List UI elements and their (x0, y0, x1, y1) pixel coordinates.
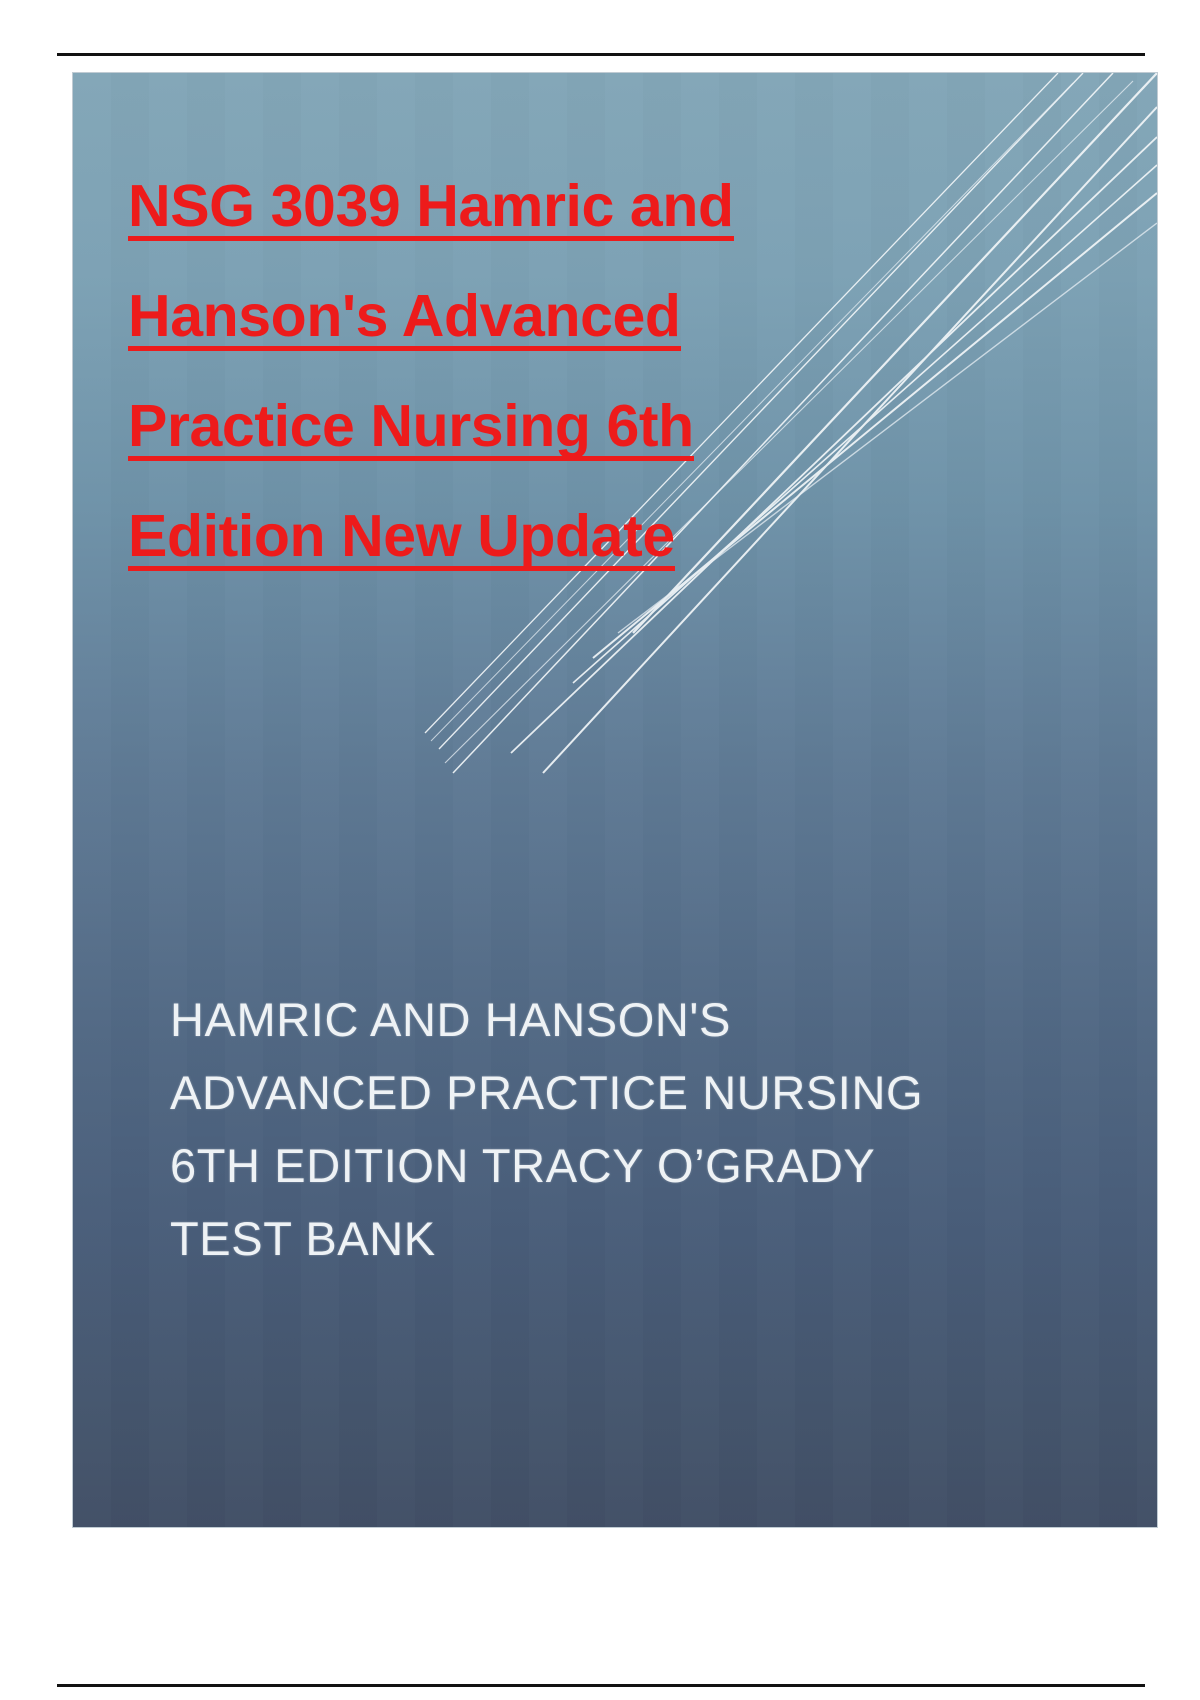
cover-subtitle: HAMRIC AND HANSON'S ADVANCED PRACTICE NU… (170, 983, 970, 1275)
title-line-1: NSG 3039 Hamric and (128, 151, 734, 261)
subtitle-line-4: TEST BANK (170, 1202, 970, 1275)
cover-title: NSG 3039 Hamric and Hanson's Advanced Pr… (128, 151, 1008, 591)
subtitle-line-2: ADVANCED PRACTICE NURSING (170, 1056, 970, 1129)
cover-slide: NSG 3039 Hamric and Hanson's Advanced Pr… (73, 73, 1157, 1527)
title-line-3: Practice Nursing 6th (128, 371, 694, 481)
title-line-4: Edition New Update (128, 481, 675, 591)
bottom-horizontal-rule (57, 1684, 1145, 1687)
top-horizontal-rule (57, 53, 1145, 56)
subtitle-line-3: 6TH EDITION TRACY O’GRADY (170, 1129, 970, 1202)
subtitle-line-1: HAMRIC AND HANSON'S (170, 983, 970, 1056)
title-line-2: Hanson's Advanced (128, 261, 681, 371)
